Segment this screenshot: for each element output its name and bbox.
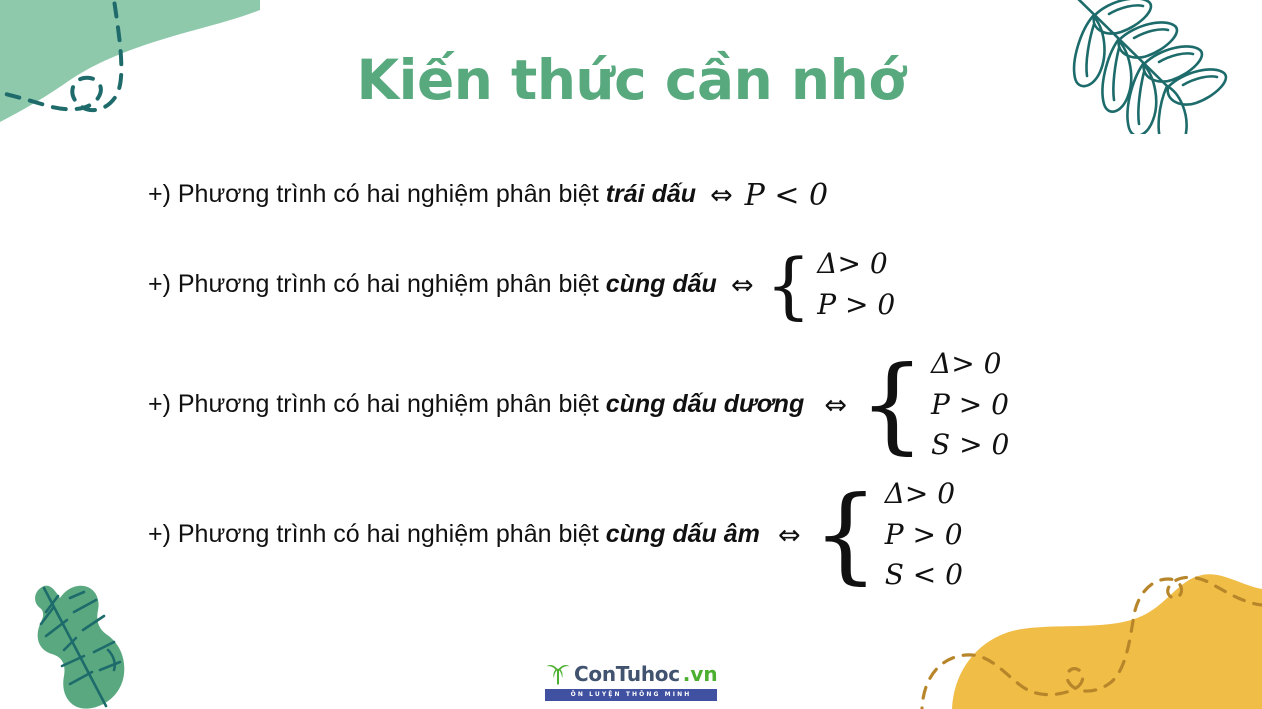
condition-expression: Δ> 0 — [931, 344, 1009, 385]
condition-system: { Δ> 0 P > 0 S < 0 — [813, 474, 963, 596]
iff-symbol: ⇔ — [778, 520, 801, 551]
condition-expression: S < 0 — [885, 555, 963, 596]
logo-main-row: ConTuhoc .vn — [545, 661, 718, 687]
condition-expression: P > 0 — [885, 515, 963, 556]
condition-system: { Δ> 0 P > 0 — [765, 244, 895, 325]
logo-wordmark: ConTuhoc — [574, 664, 680, 684]
condition-list: Δ> 0 P > 0 — [817, 244, 895, 325]
list-item: +) Phương trình có hai nghiệm phân biệt … — [148, 470, 1158, 600]
palm-sprout-icon — [545, 661, 571, 687]
condition-list: Δ> 0 P > 0 S > 0 — [931, 344, 1009, 466]
condition-expression: Δ> 0 — [885, 474, 963, 515]
list-item: +) Phương trình có hai nghiệm phân biệt … — [148, 340, 1158, 470]
statement-emphasis: trái dấu — [606, 180, 696, 208]
list-item: +) Phương trình có hai nghiệm phân biệt … — [148, 160, 1158, 230]
left-brace-icon: { — [859, 358, 925, 452]
statement-prefix: +) Phương trình có hai nghiệm phân biệt — [148, 520, 606, 548]
statement-emphasis: cùng dấu — [606, 270, 717, 298]
condition-expression: P > 0 — [931, 385, 1009, 426]
logo-tld: .vn — [683, 664, 718, 684]
condition-expression: S > 0 — [931, 425, 1009, 466]
filled-leaf-decoration — [10, 564, 170, 709]
condition-expression: P > 0 — [817, 285, 895, 326]
statement-prefix: +) Phương trình có hai nghiệm phân biệt — [148, 270, 606, 298]
condition-expression: P < 0 — [745, 178, 828, 213]
statement-prefix: +) Phương trình có hai nghiệm phân biệt — [148, 390, 606, 418]
condition-expression: Δ> 0 — [817, 244, 895, 285]
statement-emphasis: cùng dấu dương — [606, 390, 805, 418]
condition-list: Δ> 0 P > 0 S < 0 — [885, 474, 963, 596]
iff-symbol: ⇔ — [710, 180, 733, 211]
slide-canvas: Kiến thức cần nhớ +) Phương trình có hai… — [0, 0, 1262, 709]
statement-text: +) Phương trình có hai nghiệm phân biệt … — [148, 519, 760, 550]
logo-tagline: ÔN LUYỆN THÔNG MINH — [545, 689, 717, 701]
statement-text: +) Phương trình có hai nghiệm phân biệt … — [148, 389, 804, 420]
page-title: Kiến thức cần nhớ — [0, 48, 1262, 112]
knowledge-list: +) Phương trình có hai nghiệm phân biệt … — [148, 160, 1158, 600]
statement-text: +) Phương trình có hai nghiệm phân biệt … — [148, 179, 696, 210]
iff-symbol: ⇔ — [731, 270, 754, 301]
condition-system: { Δ> 0 P > 0 S > 0 — [859, 344, 1009, 466]
list-item: +) Phương trình có hai nghiệm phân biệt … — [148, 230, 1158, 340]
left-brace-icon: { — [765, 253, 811, 318]
statement-emphasis: cùng dấu âm — [606, 520, 760, 548]
left-brace-icon: { — [813, 488, 879, 582]
statement-prefix: +) Phương trình có hai nghiệm phân biệt — [148, 180, 606, 208]
iff-symbol: ⇔ — [824, 390, 847, 421]
site-logo[interactable]: ConTuhoc .vn ÔN LUYỆN THÔNG MINH — [545, 661, 717, 701]
statement-text: +) Phương trình có hai nghiệm phân biệt … — [148, 269, 717, 300]
